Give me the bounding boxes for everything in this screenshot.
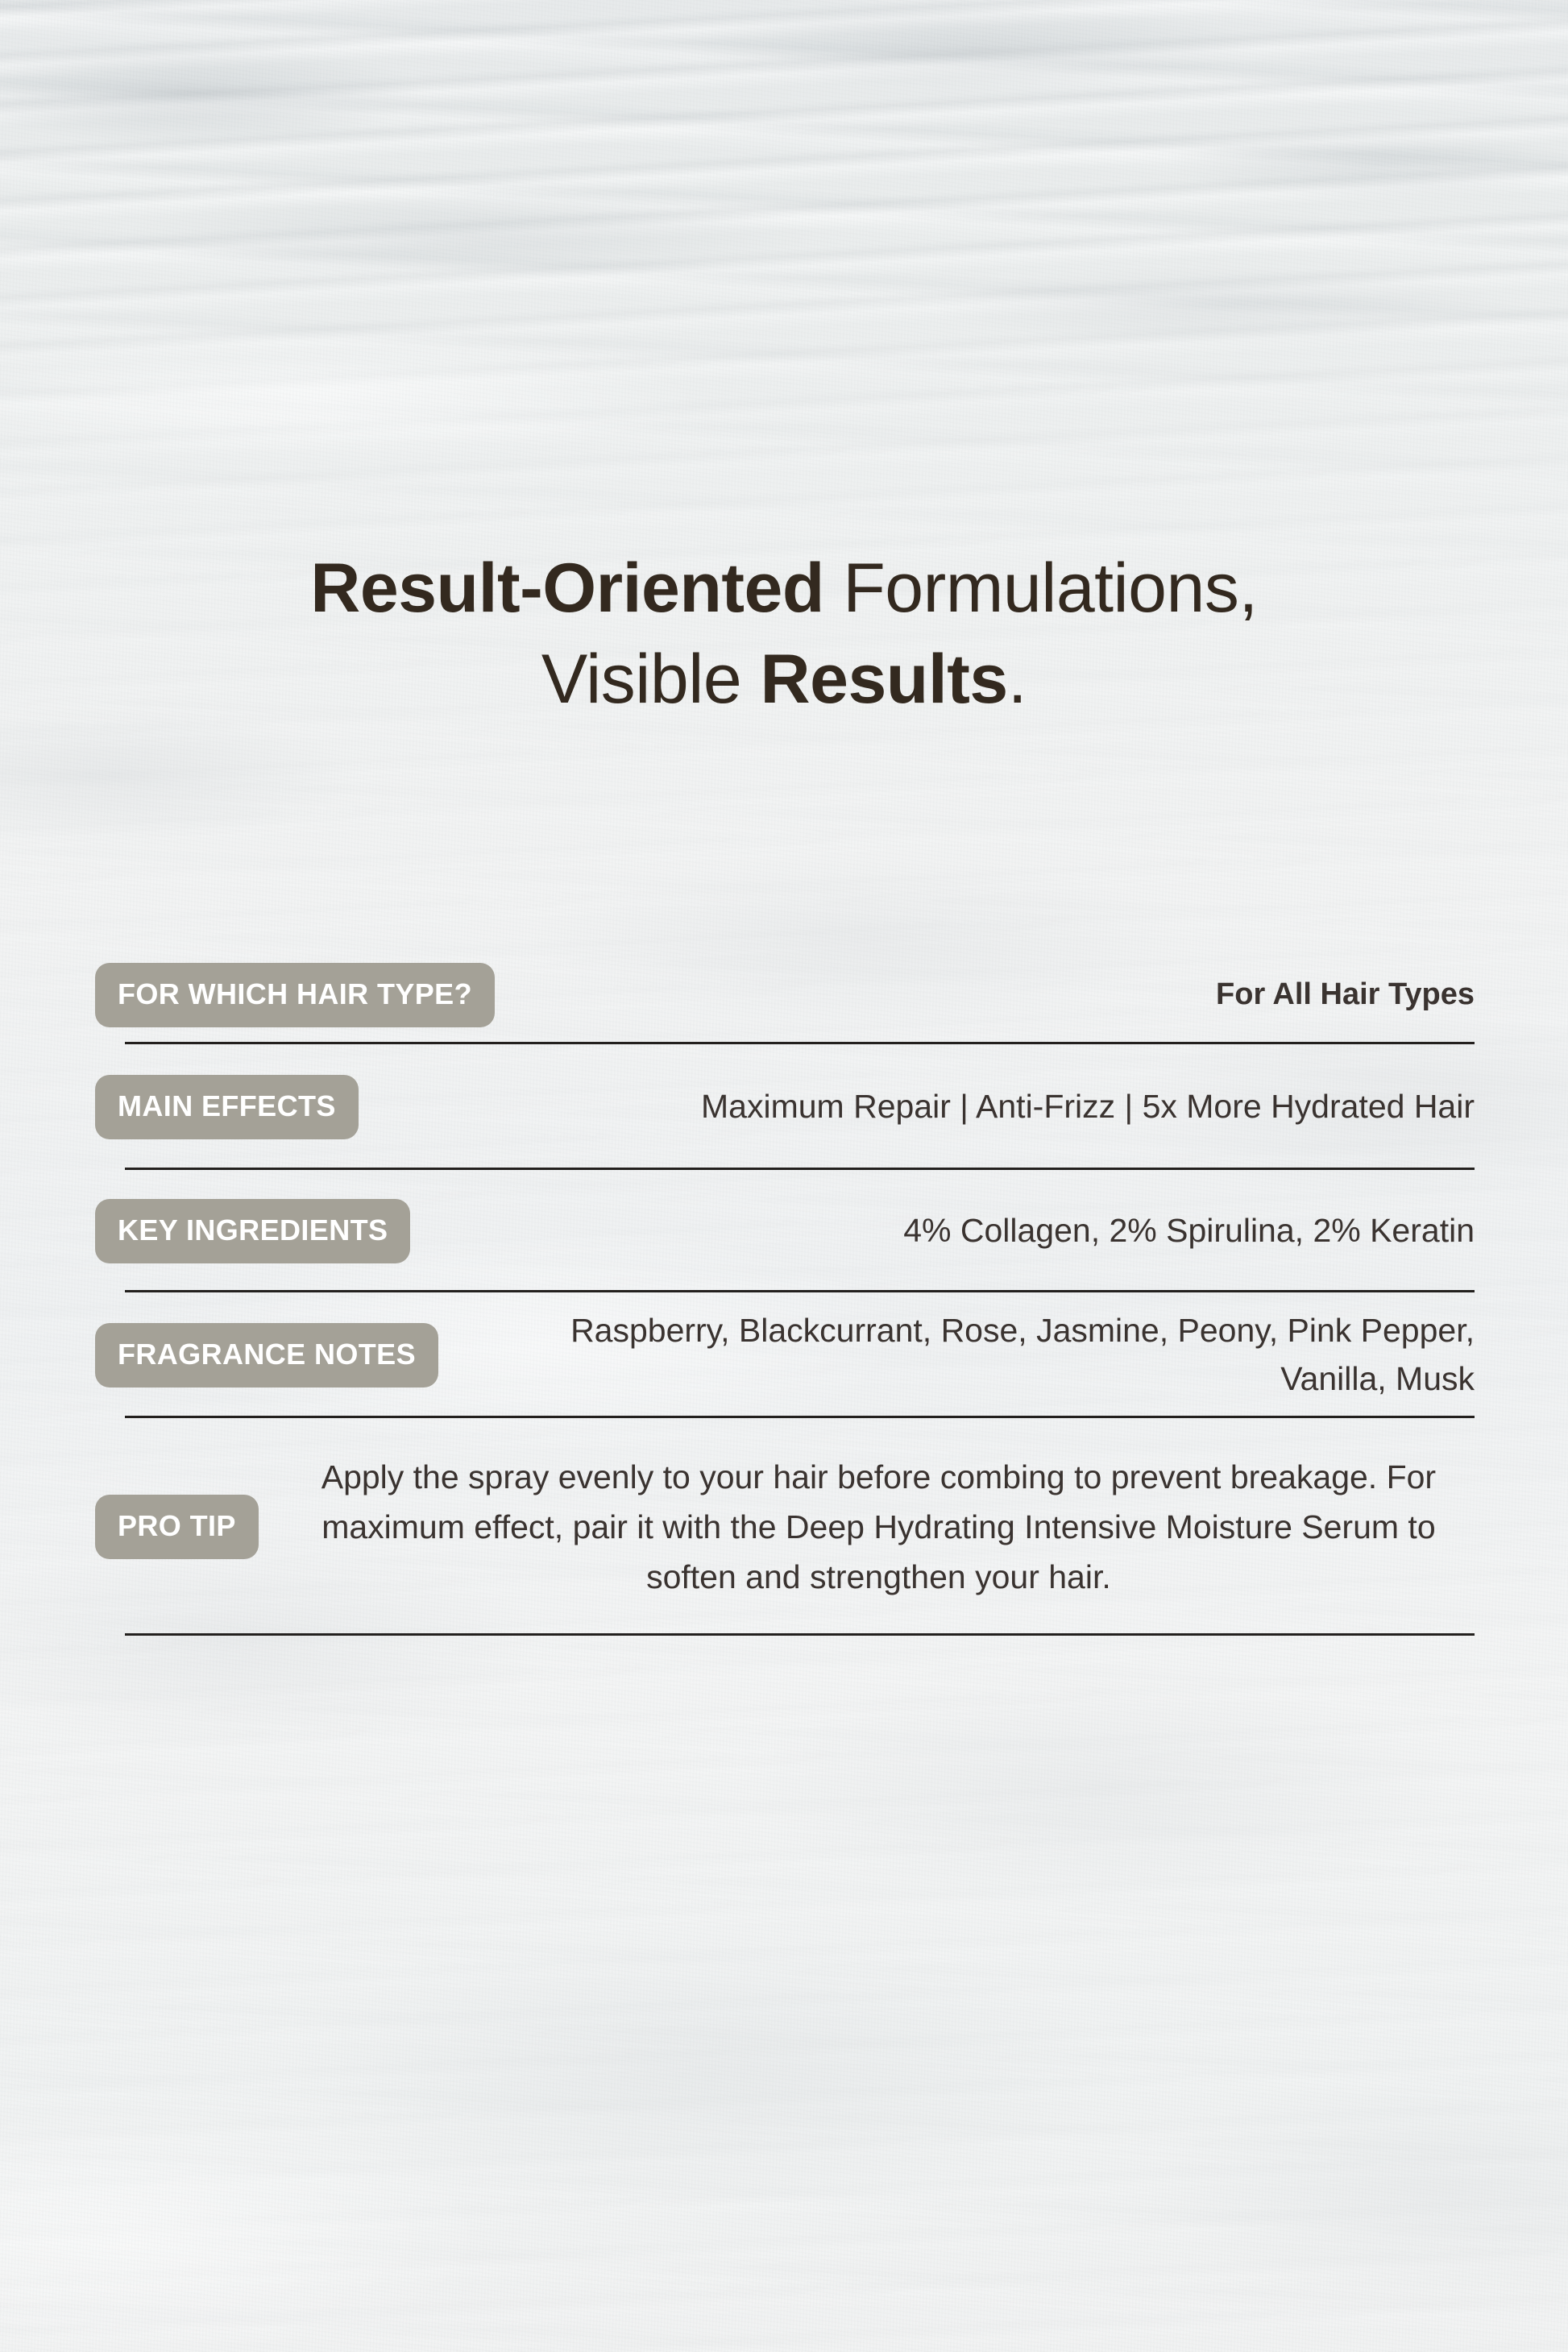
page-title: Result-Oriented Formulations, Visible Re… [0,543,1568,726]
product-spec-table: FOR WHICH HAIR TYPE? For All Hair Types … [0,941,1568,1636]
spec-row-main-effects: MAIN EFFECTS Maximum Repair | Anti-Frizz… [0,1044,1568,1170]
spec-row-fragrance-notes: FRAGRANCE NOTES Raspberry, Blackcurrant,… [0,1292,1568,1418]
spec-value-pro-tip: Apply the spray evenly to your hair befo… [259,1452,1475,1603]
spec-label-main-effects: MAIN EFFECTS [95,1075,359,1139]
headline-strong-1: Result-Oriented [310,550,824,627]
spec-label-key-ingredients: KEY INGREDIENTS [95,1199,410,1263]
product-detail-page: Result-Oriented Formulations, Visible Re… [0,0,1568,2352]
spec-row-hair-type: FOR WHICH HAIR TYPE? For All Hair Types [0,941,1568,1044]
spec-label-fragrance-notes: FRAGRANCE NOTES [95,1323,438,1388]
spec-label-pro-tip: PRO TIP [95,1495,259,1559]
page-content: Result-Oriented Formulations, Visible Re… [0,0,1568,2352]
spec-value-main-effects: Maximum Repair | Anti-Frizz | 5x More Hy… [359,1083,1475,1131]
spec-value-key-ingredients: 4% Collagen, 2% Spirulina, 2% Keratin [410,1207,1475,1255]
spec-row-pro-tip: PRO TIP Apply the spray evenly to your h… [0,1418,1568,1636]
spec-row-key-ingredients: KEY INGREDIENTS 4% Collagen, 2% Spirulin… [0,1170,1568,1292]
headline-line-2: Visible Results. [0,634,1568,726]
headline-light-1: Formulations, [824,550,1258,627]
spec-label-hair-type: FOR WHICH HAIR TYPE? [95,963,495,1027]
row-divider-5 [125,1633,1475,1636]
spec-value-fragrance-notes: Raspberry, Blackcurrant, Rose, Jasmine, … [438,1307,1475,1404]
headline-period: . [1008,641,1027,718]
headline-line-1: Result-Oriented Formulations, [0,543,1568,635]
spec-value-hair-type: For All Hair Types [495,973,1475,1017]
headline-strong-2: Results [761,641,1008,718]
headline-light-2: Visible [541,641,761,718]
